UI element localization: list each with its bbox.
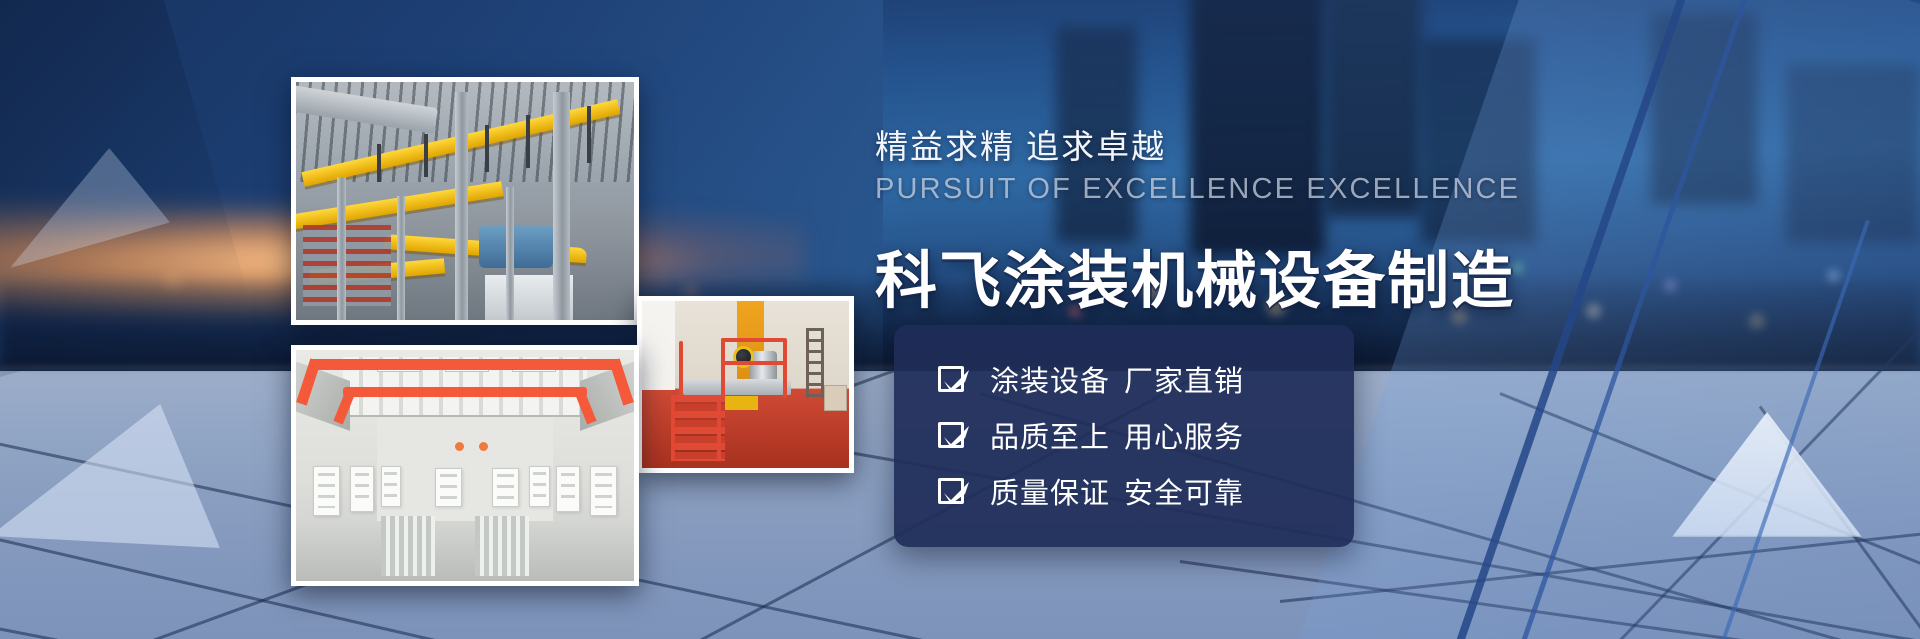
feature-label-1: 涂装设备厂家直销 <box>990 358 1244 400</box>
feature-item-2: 品质至上用心服务 <box>938 407 1354 463</box>
feature-1-part-a: 涂装设备 <box>990 364 1110 398</box>
feature-2-part-a: 品质至上 <box>990 420 1110 454</box>
feature-item-3: 质量保证安全可靠 <box>938 463 1354 519</box>
company-title: 科飞涂装机械设备制造 <box>875 230 1520 320</box>
headline-block: 精益求精 追求卓越 PURSUIT OF EXCELLENCE EXCELLEN… <box>875 120 1520 320</box>
feature-1-part-b: 厂家直销 <box>1124 364 1244 398</box>
promotional-banner: 精益求精 追求卓越 PURSUIT OF EXCELLENCE EXCELLEN… <box>0 0 1920 639</box>
photo-spraybooth <box>291 345 639 586</box>
feature-label-3: 质量保证安全可靠 <box>990 470 1244 512</box>
feature-panel: 涂装设备厂家直销 品质至上用心服务 质量保证安全可靠 <box>894 325 1354 547</box>
feature-3-part-a: 质量保证 <box>990 476 1110 510</box>
slogan-chinese: 精益求精 追求卓越 <box>875 120 1520 168</box>
feature-item-1: 涂装设备厂家直销 <box>938 351 1354 407</box>
checkbox-checked-icon <box>938 364 968 394</box>
feature-3-part-b: 安全可靠 <box>1124 476 1244 510</box>
checkbox-checked-icon <box>938 476 968 506</box>
checkbox-checked-icon <box>938 420 968 450</box>
feature-label-2: 品质至上用心服务 <box>990 414 1244 456</box>
feature-2-part-b: 用心服务 <box>1124 420 1244 454</box>
photo-conveyor <box>291 77 639 325</box>
photo-workstation <box>637 296 854 473</box>
slogan-english: PURSUIT OF EXCELLENCE EXCELLENCE <box>875 173 1520 206</box>
